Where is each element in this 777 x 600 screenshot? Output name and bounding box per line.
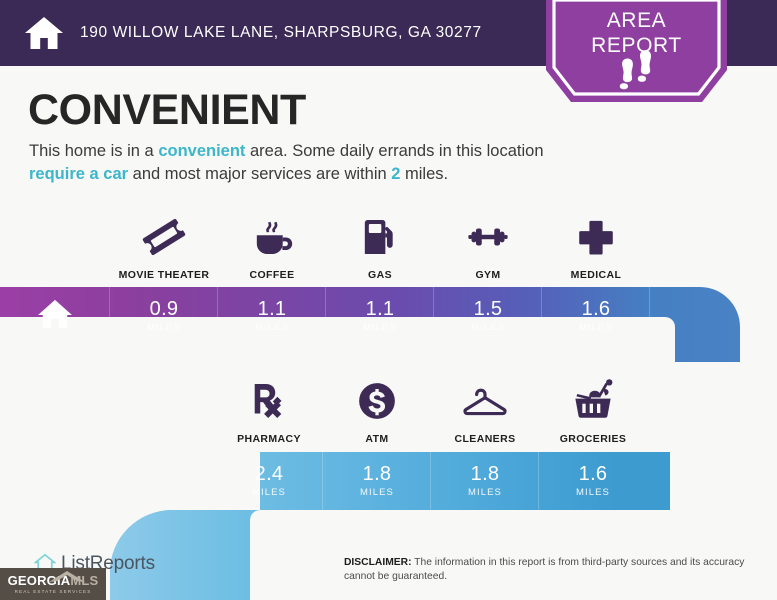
home-icon bbox=[24, 15, 64, 51]
category-cleaners: CLEANERS bbox=[431, 370, 539, 445]
category-label: GAS bbox=[368, 269, 392, 281]
category-label: GYM bbox=[475, 269, 500, 281]
category-movie-theater: MOVIE THEATER bbox=[110, 206, 218, 281]
area-report-badge: AREA REPORT bbox=[546, 0, 727, 115]
distance-value: 1.8 bbox=[363, 464, 392, 485]
category-gas: GAS bbox=[326, 206, 434, 281]
distance-cell-pharmacy: 2.4 MILES bbox=[215, 452, 323, 510]
distance-unit: MILES bbox=[252, 487, 286, 498]
category-label: ATM bbox=[365, 433, 388, 445]
summary-part-1: This home is in a bbox=[29, 142, 158, 160]
category-groceries: GROCERIES bbox=[539, 370, 647, 445]
roof-icon bbox=[47, 570, 87, 583]
category-label: MOVIE THEATER bbox=[119, 269, 210, 281]
category-label: GROCERIES bbox=[560, 433, 627, 445]
distance-value: 1.6 bbox=[579, 464, 608, 485]
category-label: PHARMACY bbox=[237, 433, 301, 445]
row2-distance-bar: 2.4 MILES 1.8 MILES 1.8 MILES 1.6 MILES bbox=[110, 452, 647, 510]
category-label: MEDICAL bbox=[571, 269, 622, 281]
category-medical: MEDICAL bbox=[542, 206, 650, 281]
distance-unit: MILES bbox=[576, 487, 610, 498]
property-address: 190 WILLOW LAKE LANE, SHARPSBURG, GA 302… bbox=[80, 24, 482, 42]
georgia-mls-logo: GEORGIAMLS REAL ESTATE SERVICES bbox=[0, 568, 106, 600]
page-title: CONVENIENT bbox=[28, 86, 306, 134]
summary-part-4: miles. bbox=[400, 165, 448, 183]
distance-unit: MILES bbox=[468, 487, 502, 498]
distance-value: 2.4 bbox=[255, 464, 284, 485]
distance-cell-medical: 1.6 MILES bbox=[542, 287, 650, 345]
dollar-circle-icon bbox=[352, 370, 402, 426]
category-label: CLEANERS bbox=[455, 433, 516, 445]
medical-cross-icon bbox=[571, 206, 621, 262]
movie-ticket-icon bbox=[139, 206, 189, 262]
distance-unit: MILES bbox=[147, 322, 181, 333]
distance-cell-movie-theater: 0.9 MILES bbox=[110, 287, 218, 345]
area-report-infographic: 190 WILLOW LAKE LANE, SHARPSBURG, GA 302… bbox=[0, 0, 777, 600]
distance-cell-cleaners: 1.8 MILES bbox=[431, 452, 539, 510]
category-gym: GYM bbox=[434, 206, 542, 281]
distance-cell-atm: 1.8 MILES bbox=[323, 452, 431, 510]
gas-pump-icon bbox=[355, 206, 405, 262]
distance-value: 1.6 bbox=[582, 299, 611, 320]
grocery-basket-icon bbox=[567, 370, 619, 426]
distance-unit: MILES bbox=[360, 487, 394, 498]
dumbbell-icon bbox=[463, 206, 513, 262]
distance-value: 1.8 bbox=[471, 464, 500, 485]
distance-cell-coffee: 1.1 MILES bbox=[218, 287, 326, 345]
row1-distance-bar: 0.9 MILES 1.1 MILES 1.1 MILES 1.5 MILES … bbox=[0, 287, 650, 345]
summary-highlight-1: convenient bbox=[158, 142, 245, 160]
summary-highlight-2: require a car bbox=[29, 165, 128, 183]
category-coffee: COFFEE bbox=[218, 206, 326, 281]
category-pharmacy: PHARMACY bbox=[215, 370, 323, 445]
category-label: COFFEE bbox=[250, 269, 295, 281]
distance-unit: MILES bbox=[579, 322, 613, 333]
prescription-rx-icon bbox=[244, 370, 294, 426]
distance-value: 1.5 bbox=[474, 299, 503, 320]
home-icon bbox=[36, 298, 74, 335]
row1-icon-strip: MOVIE THEATER COFFEE bbox=[110, 206, 650, 281]
distance-unit: MILES bbox=[363, 322, 397, 333]
distance-value: 0.9 bbox=[150, 299, 179, 320]
row2-icon-strip: PHARMACY ATM CLEANERS bbox=[215, 370, 647, 445]
clothes-hanger-icon bbox=[459, 370, 511, 426]
row1-home-cell bbox=[0, 287, 110, 345]
summary-text: This home is in a convenient area. Some … bbox=[29, 140, 549, 186]
distance-unit: MILES bbox=[255, 322, 289, 333]
cell-divider bbox=[649, 287, 650, 345]
summary-part-2: area. Some daily errands in this locatio… bbox=[245, 142, 543, 160]
distance-cell-gym: 1.5 MILES bbox=[434, 287, 542, 345]
summary-part-3: and most major services are within bbox=[128, 165, 391, 183]
distance-cell-groceries: 1.6 MILES bbox=[539, 452, 647, 510]
distance-unit: MILES bbox=[471, 322, 505, 333]
distance-cell-gas: 1.1 MILES bbox=[326, 287, 434, 345]
category-atm: ATM bbox=[323, 370, 431, 445]
mls-subtitle: REAL ESTATE SERVICES bbox=[15, 589, 92, 594]
distance-value: 1.1 bbox=[258, 299, 287, 320]
coffee-cup-icon bbox=[247, 206, 297, 262]
distance-value: 1.1 bbox=[366, 299, 395, 320]
